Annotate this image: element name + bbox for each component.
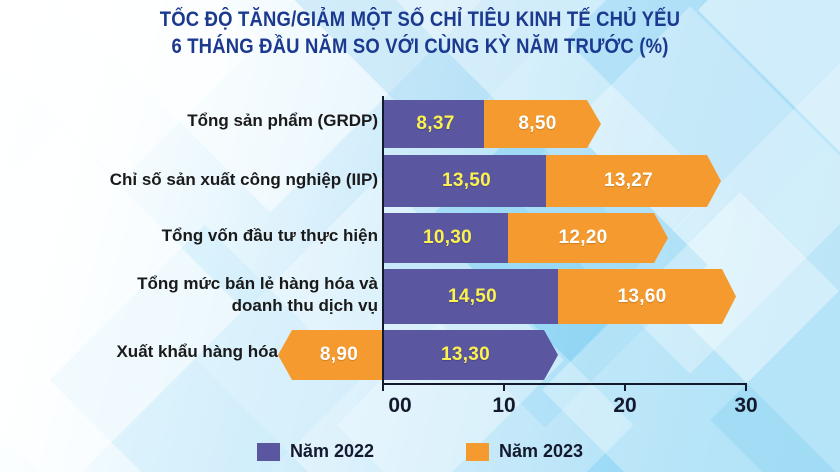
bar-value-2023: 8,50	[518, 113, 556, 135]
x-axis-tick-label: 20	[613, 394, 636, 418]
x-axis-tick-label: 10	[492, 394, 515, 418]
x-axis-tick	[503, 384, 505, 391]
chart-legend: Năm 2022 Năm 2023	[0, 441, 840, 462]
bar-2022: 14,50	[383, 269, 572, 324]
bar-value-2022: 10,30	[423, 227, 472, 249]
y-axis-line	[382, 96, 384, 384]
legend-label: Năm 2022	[290, 441, 374, 462]
plot-area: Tổng sản phẩm (GRDP) 8,37 8,50 Chỉ số sả…	[0, 0, 840, 472]
x-axis-line	[382, 383, 747, 385]
x-axis-tick-label: 30	[734, 394, 757, 418]
bar-value-2022: 13,50	[442, 170, 491, 192]
category-label: Tổng sản phẩm (GRDP)	[187, 110, 378, 132]
bar-2023: 12,20	[508, 213, 668, 263]
bar-value-2023: 13,27	[604, 170, 653, 192]
infographic-chart: TỐC ĐỘ TĂNG/GIẢM MỘT SỐ CHỈ TIÊU KINH TẾ…	[0, 0, 840, 472]
bar-2022: 8,37	[383, 100, 498, 148]
bar-2023: 13,60	[558, 269, 736, 324]
bar-value-2022: 13,30	[441, 344, 490, 366]
legend-item-2023[interactable]: Năm 2023	[466, 441, 583, 462]
bar-2022: 10,30	[383, 213, 522, 263]
x-axis-tick-label: 00	[388, 394, 411, 418]
bar-2022: 13,30	[383, 330, 558, 380]
category-label: Chỉ số sản xuất công nghiệp (IIP)	[110, 169, 378, 191]
legend-label: Năm 2023	[499, 441, 583, 462]
bar-value-2023: 8,90	[320, 344, 358, 366]
bar-value-2023: 13,60	[617, 286, 666, 308]
bar-2022: 13,50	[383, 155, 560, 207]
chart-title-line-1: TỐC ĐỘ TĂNG/GIẢM MỘT SỐ CHỈ TIÊU KINH TẾ…	[50, 6, 789, 33]
legend-swatch-icon	[257, 443, 280, 461]
x-axis-tick	[382, 384, 384, 391]
x-axis-tick	[745, 384, 747, 391]
chart-title: TỐC ĐỘ TĂNG/GIẢM MỘT SỐ CHỈ TIÊU KINH TẾ…	[0, 6, 840, 60]
category-label: Tổng mức bán lẻ hàng hóa và doanh thu dị…	[137, 273, 378, 317]
bar-2023: 8,50	[484, 100, 601, 148]
category-label: Xuất khẩu hàng hóa	[116, 341, 278, 363]
category-label: Tổng vốn đầu tư thực hiện	[162, 225, 378, 247]
bar-2023: 8,90	[278, 330, 390, 380]
bar-value-2023: 12,20	[558, 227, 607, 249]
bar-value-2022: 14,50	[448, 286, 497, 308]
legend-swatch-icon	[466, 443, 489, 461]
bar-value-2022: 8,37	[416, 113, 454, 135]
chart-title-line-2: 6 THÁNG ĐẦU NĂM SO VỚI CÙNG KỲ NĂM TRƯỚC…	[50, 33, 789, 60]
legend-item-2022[interactable]: Năm 2022	[257, 441, 374, 462]
bar-2023: 13,27	[546, 155, 721, 207]
x-axis-tick	[624, 384, 626, 391]
